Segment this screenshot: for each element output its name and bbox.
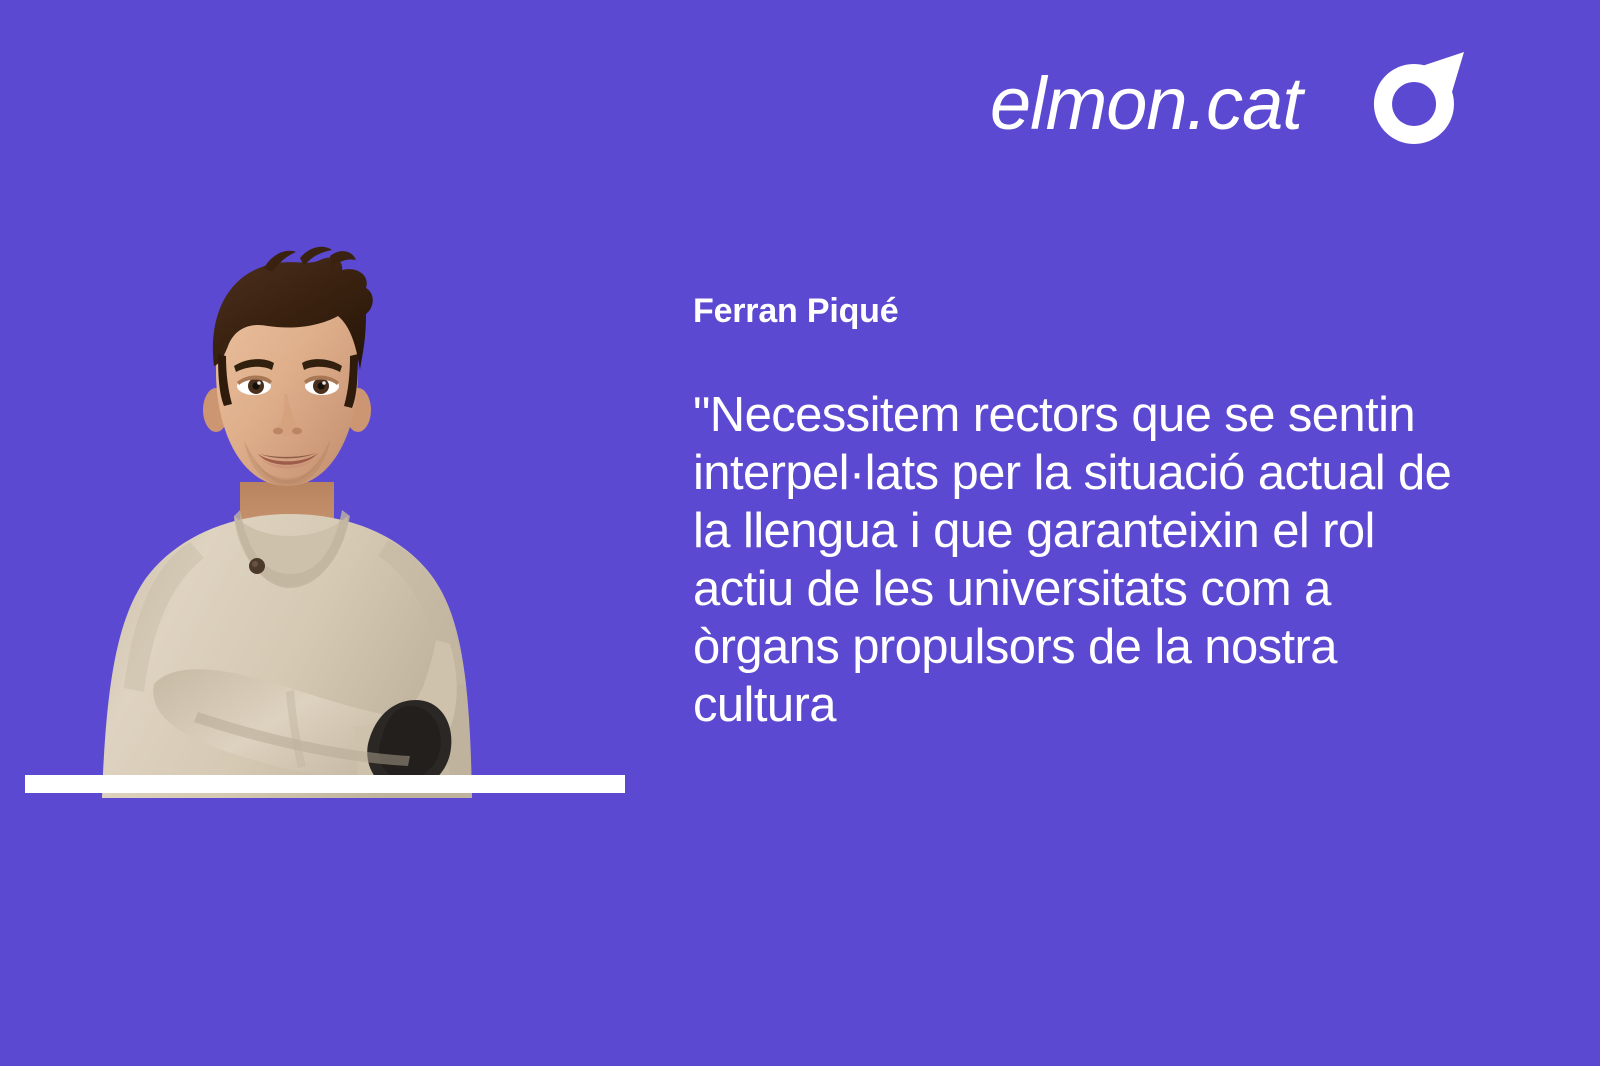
quote-line: interpel·lats per la situació actual de xyxy=(693,444,1493,502)
speaker-portrait-photo xyxy=(58,214,528,798)
quote-text: "Necessitem rectors que se sentin interp… xyxy=(693,386,1493,734)
white-underline-bar xyxy=(25,775,625,793)
quote-card: elmon.cat xyxy=(0,0,1600,1066)
quote-line: òrgans propulsors de la nostra xyxy=(693,618,1493,676)
quote-line: actiu de les universitats com a xyxy=(693,560,1493,618)
quote-line: cultura xyxy=(693,676,1493,734)
quote-line: "Necessitem rectors que se sentin xyxy=(693,386,1493,444)
quote-block: Ferran Piqué "Necessitem rectors que se … xyxy=(693,292,1493,734)
elmon-ring-logo-icon xyxy=(1360,50,1468,158)
brand-wordmark: elmon.cat xyxy=(990,67,1302,141)
speaker-name: Ferran Piqué xyxy=(693,292,1493,330)
brand-header: elmon.cat xyxy=(990,44,1490,164)
quote-line: la llengua i que garanteixin el rol xyxy=(693,502,1493,560)
